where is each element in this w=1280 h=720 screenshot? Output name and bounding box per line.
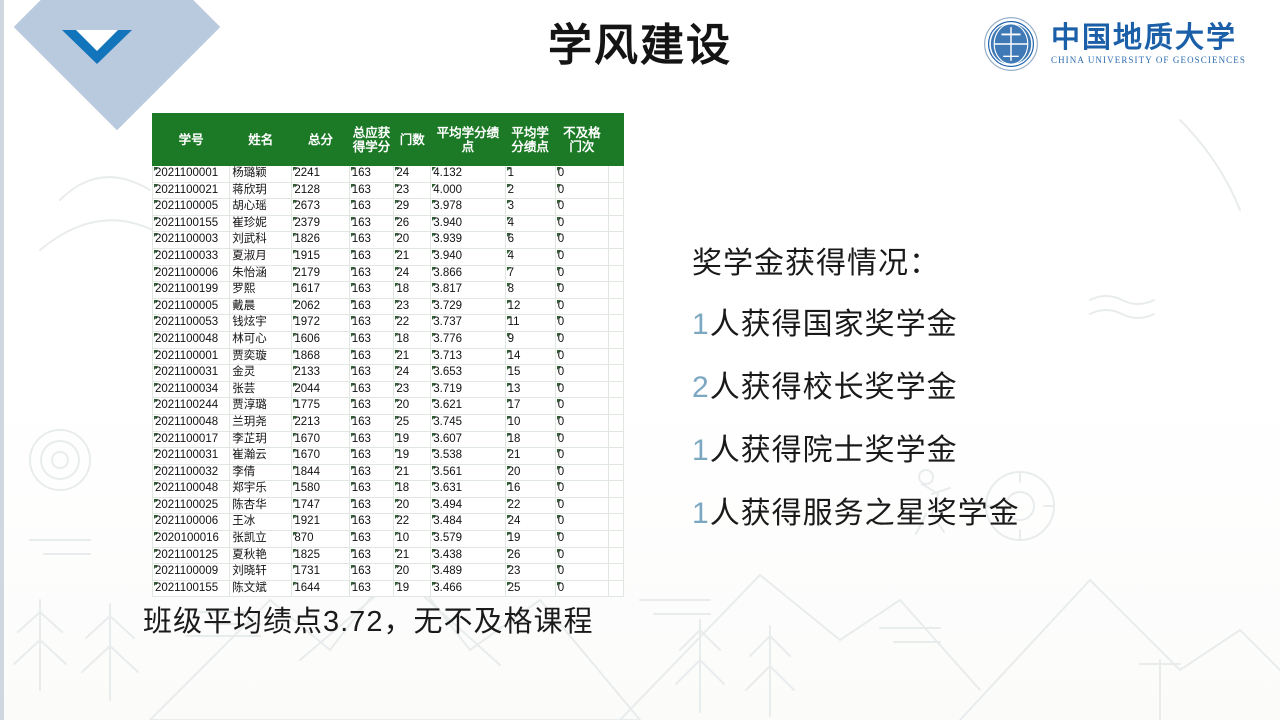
table-row[interactable]: 2021100199罗熙1617163183.81780 [153,282,624,299]
cell-gpa: 3.438 [431,547,505,564]
cell-gpa-rank: 6 [505,232,555,249]
cell-gpa-rank: 15 [505,365,555,382]
cell-name: 刘晓轩 [230,564,292,581]
cell-gpa: 3.494 [431,497,505,514]
cell-name: 张凯立 [230,531,292,548]
award-label: 人获得国家奖学金 [710,308,958,341]
cell-fail-count: 0 [555,348,608,365]
cell-spacer [609,514,624,531]
table-body: 2021100001杨璐颖2241163244.132102021100021蒋… [153,166,624,597]
cell-student-id: 2021100031 [153,448,230,465]
column-header-course-count: 门数 [394,114,431,166]
cell-spacer [609,331,624,348]
cell-student-id: 2021100048 [153,481,230,498]
cell-total-score: 2133 [292,365,349,382]
cell-spacer [609,547,624,564]
cell-credits: 163 [349,365,394,382]
cell-course-count: 18 [394,481,431,498]
cell-gpa-rank: 14 [505,348,555,365]
cell-fail-count: 0 [555,547,608,564]
cell-course-count: 25 [394,414,431,431]
cell-credits: 163 [349,348,394,365]
cell-gpa: 3.466 [431,580,505,597]
cell-name: 王冰 [230,514,292,531]
cell-student-id: 2021100244 [153,398,230,415]
award-line: 1人获得服务之星奖学金 [692,488,1192,532]
cell-total-score: 1644 [292,580,349,597]
cell-credits: 163 [349,282,394,299]
cell-student-id: 2021100034 [153,381,230,398]
cell-gpa: 3.631 [431,481,505,498]
cell-name: 贾淳璐 [230,398,292,415]
cell-fail-count: 0 [555,282,608,299]
cell-total-score: 1844 [292,464,349,481]
cell-fail-count: 0 [555,166,608,183]
table-row[interactable]: 2021100033夏淑月1915163213.94040 [153,248,624,265]
cell-gpa-rank: 4 [505,215,555,232]
cell-fail-count: 0 [555,182,608,199]
cell-fail-count: 0 [555,232,608,249]
awards-list: 1人获得国家奖学金2人获得校长奖学金1人获得院士奖学金1人获得服务之星奖学金 [692,299,1192,532]
cell-credits: 163 [349,464,394,481]
cell-gpa-rank: 1 [505,166,555,183]
cell-student-id: 2021100005 [153,298,230,315]
cell-name: 刘武科 [230,232,292,249]
award-line: 1人获得国家奖学金 [692,299,1192,343]
cell-credits: 163 [349,514,394,531]
cell-gpa-rank: 22 [505,497,555,514]
cell-student-id: 2021100048 [153,414,230,431]
cell-course-count: 18 [394,282,431,299]
cell-gpa-rank: 21 [505,448,555,465]
table-row[interactable]: 2021100032李倩1844163213.561200 [153,464,624,481]
cell-total-score: 1921 [292,514,349,531]
cell-gpa: 3.729 [431,298,505,315]
cell-student-id: 2021100021 [153,182,230,199]
cell-student-id: 2021100155 [153,580,230,597]
cell-gpa-rank: 17 [505,398,555,415]
table-header-row: 学号 姓名 总分 总应获得学分 门数 平均学分绩点 平均学分绩点 不及格门次 [153,114,624,166]
cell-gpa: 3.940 [431,248,505,265]
cell-gpa-rank: 3 [505,199,555,216]
cell-gpa-rank: 19 [505,531,555,548]
award-count: 2 [692,371,710,404]
cell-gpa: 3.978 [431,199,505,216]
logo-name-en: CHINA UNIVERSITY OF GEOSCIENCES [1051,55,1246,65]
cell-name: 朱怡涵 [230,265,292,282]
cell-credits: 163 [349,547,394,564]
cell-credits: 163 [349,398,394,415]
cell-fail-count: 0 [555,514,608,531]
cell-fail-count: 0 [555,315,608,332]
cell-course-count: 21 [394,547,431,564]
cell-spacer [609,232,624,249]
table-row[interactable]: 2021100125夏秋艳1825163213.438260 [153,547,624,564]
table-row[interactable]: 2021100048兰玥尧2213163253.745100 [153,414,624,431]
cell-name: 贾奕璇 [230,348,292,365]
table-row[interactable]: 2021100017李芷玥1670163193.607180 [153,431,624,448]
cell-credits: 163 [349,248,394,265]
cell-course-count: 10 [394,531,431,548]
cell-spacer [609,265,624,282]
cell-gpa: 3.745 [431,414,505,431]
cell-total-score: 1617 [292,282,349,299]
table-row[interactable]: 2021100001贾奕璇1868163213.713140 [153,348,624,365]
university-logo: 中国地质大学 CHINA UNIVERSITY OF GEOSCIENCES [983,16,1246,72]
cell-credits: 163 [349,580,394,597]
cell-total-score: 2379 [292,215,349,232]
cell-fail-count: 0 [555,298,608,315]
cell-credits: 163 [349,381,394,398]
cell-spacer [609,315,624,332]
cell-spacer [609,166,624,183]
cell-student-id: 2021100199 [153,282,230,299]
cell-spacer [609,564,624,581]
cell-total-score: 1775 [292,398,349,415]
cell-name: 崔瀚云 [230,448,292,465]
cell-fail-count: 0 [555,365,608,382]
cell-gpa: 3.939 [431,232,505,249]
cell-course-count: 18 [394,331,431,348]
cell-student-id: 2021100005 [153,199,230,216]
cell-gpa-rank: 10 [505,414,555,431]
cell-spacer [609,580,624,597]
cell-gpa-rank: 25 [505,580,555,597]
cell-total-score: 1731 [292,564,349,581]
cell-course-count: 23 [394,182,431,199]
cell-student-id: 2021100033 [153,248,230,265]
cell-credits: 163 [349,448,394,465]
cell-gpa: 3.940 [431,215,505,232]
cell-name: 李芷玥 [230,431,292,448]
cell-total-score: 1606 [292,331,349,348]
cell-credits: 163 [349,315,394,332]
cell-total-score: 1972 [292,315,349,332]
cell-gpa: 3.653 [431,365,505,382]
cell-gpa-rank: 7 [505,265,555,282]
cell-student-id: 2021100009 [153,564,230,581]
cell-student-id: 2021100001 [153,348,230,365]
award-line: 1人获得院士奖学金 [692,425,1192,469]
table-row[interactable]: 2021100155陈文斌1644163193.466250 [153,580,624,597]
cell-spacer [609,398,624,415]
cell-spacer [609,448,624,465]
cell-course-count: 23 [394,381,431,398]
cell-student-id: 2021100155 [153,215,230,232]
cell-gpa: 3.489 [431,564,505,581]
cell-total-score: 1868 [292,348,349,365]
cell-name: 夏秋艳 [230,547,292,564]
cell-credits: 163 [349,481,394,498]
cell-name: 戴晨 [230,298,292,315]
column-header-gpa: 平均学分绩点 [431,114,505,166]
cell-course-count: 21 [394,464,431,481]
table-row[interactable]: 2021100009刘晓轩1731163203.489230 [153,564,624,581]
cell-total-score: 1826 [292,232,349,249]
cell-gpa-rank: 23 [505,564,555,581]
cell-course-count: 20 [394,398,431,415]
cell-course-count: 24 [394,265,431,282]
cell-course-count: 19 [394,431,431,448]
cell-credits: 163 [349,531,394,548]
cell-spacer [609,414,624,431]
cell-gpa: 3.579 [431,531,505,548]
cell-course-count: 23 [394,298,431,315]
logo-text-block: 中国地质大学 CHINA UNIVERSITY OF GEOSCIENCES [1051,24,1246,65]
cell-gpa-rank: 26 [505,547,555,564]
table-row[interactable]: 2021100006朱怡涵2179163243.86670 [153,265,624,282]
cell-spacer [609,481,624,498]
table-row[interactable]: 2021100005胡心瑶2673163293.97830 [153,199,624,216]
cell-gpa-rank: 24 [505,514,555,531]
cell-gpa-rank: 16 [505,481,555,498]
cell-student-id: 2021100025 [153,497,230,514]
cell-spacer [609,431,624,448]
table-row[interactable]: 2021100034张芸2044163233.719130 [153,381,624,398]
cell-student-id: 2021100003 [153,232,230,249]
cell-total-score: 2673 [292,199,349,216]
cell-credits: 163 [349,265,394,282]
cell-fail-count: 0 [555,431,608,448]
cell-credits: 163 [349,497,394,514]
cell-name: 林可心 [230,331,292,348]
cell-name: 胡心瑶 [230,199,292,216]
award-label: 人获得服务之星奖学金 [710,497,1020,530]
column-header-student-id: 学号 [153,114,230,166]
cell-course-count: 20 [394,232,431,249]
cell-spacer [609,365,624,382]
cell-fail-count: 0 [555,398,608,415]
column-header-spacer [609,114,624,166]
award-label: 人获得院士奖学金 [710,434,958,467]
cell-gpa-rank: 2 [505,182,555,199]
cell-credits: 163 [349,215,394,232]
award-count: 1 [692,497,710,530]
cell-total-score: 2241 [292,166,349,183]
table-row[interactable]: 2021100006王冰1921163223.484240 [153,514,624,531]
cell-student-id: 2021100006 [153,514,230,531]
table-row[interactable]: 2020100016张凯立870163103.579190 [153,531,624,548]
cell-total-score: 2128 [292,182,349,199]
cell-name: 崔珍妮 [230,215,292,232]
cell-course-count: 20 [394,497,431,514]
cell-fail-count: 0 [555,215,608,232]
grade-table[interactable]: 学号 姓名 总分 总应获得学分 门数 平均学分绩点 平均学分绩点 不及格门次 2… [152,113,624,597]
cell-fail-count: 0 [555,464,608,481]
cell-gpa-rank: 8 [505,282,555,299]
cell-spacer [609,348,624,365]
cell-gpa: 3.561 [431,464,505,481]
cell-total-score: 2044 [292,381,349,398]
column-header-credits: 总应获得学分 [349,114,394,166]
table-row[interactable]: 2021100155崔珍妮2379163263.94040 [153,215,624,232]
cell-gpa: 3.817 [431,282,505,299]
table-caption: 班级平均绩点3.72，无不及格课程 [143,598,593,640]
cell-name: 蒋欣玥 [230,182,292,199]
cell-course-count: 24 [394,166,431,183]
cell-name: 兰玥尧 [230,414,292,431]
cell-course-count: 24 [394,365,431,382]
column-header-total-score: 总分 [292,114,349,166]
cell-credits: 163 [349,431,394,448]
award-count: 1 [692,308,710,341]
slide-canvas: 学风建设 中国地质大学 CHINA UNIVERSITY OF GEOSCIEN… [0,0,1280,720]
cell-credits: 163 [349,182,394,199]
column-header-name: 姓名 [230,114,292,166]
cell-name: 罗熙 [230,282,292,299]
table-row[interactable]: 2021100021蒋欣玥2128163234.00020 [153,182,624,199]
cell-gpa: 4.000 [431,182,505,199]
cell-fail-count: 0 [555,481,608,498]
cell-credits: 163 [349,298,394,315]
cell-gpa: 3.484 [431,514,505,531]
cell-gpa: 4.132 [431,166,505,183]
table-row[interactable]: 2021100003刘武科1826163203.93960 [153,232,624,249]
cell-fail-count: 0 [555,448,608,465]
table-row[interactable]: 2021100048郑宇乐1580163183.631160 [153,481,624,498]
cell-spacer [609,215,624,232]
award-line: 2人获得校长奖学金 [692,362,1192,406]
cell-gpa-rank: 13 [505,381,555,398]
cell-course-count: 22 [394,514,431,531]
cell-gpa: 3.538 [431,448,505,465]
cell-student-id: 2021100125 [153,547,230,564]
cell-fail-count: 0 [555,531,608,548]
cell-fail-count: 0 [555,381,608,398]
cell-gpa: 3.737 [431,315,505,332]
column-header-fail-count: 不及格门次 [555,114,608,166]
cell-name: 钱炫宇 [230,315,292,332]
cell-name: 陈杏华 [230,497,292,514]
cell-student-id: 2021100032 [153,464,230,481]
awards-section: 奖学金获得情况： 1人获得国家奖学金2人获得校长奖学金1人获得院士奖学金1人获得… [692,238,1192,551]
cell-student-id: 2021100048 [153,331,230,348]
table-row[interactable]: 2021100244贾淳璐1775163203.621170 [153,398,624,415]
left-accent-rail [0,0,4,720]
cell-fail-count: 0 [555,414,608,431]
cell-name: 夏淑月 [230,248,292,265]
cell-total-score: 2179 [292,265,349,282]
cell-gpa: 3.776 [431,331,505,348]
award-count: 1 [692,434,710,467]
cell-total-score: 1915 [292,248,349,265]
table-row[interactable]: 2021100053钱炫宇1972163223.737110 [153,315,624,332]
cell-spacer [609,464,624,481]
cell-credits: 163 [349,232,394,249]
cell-total-score: 1580 [292,481,349,498]
cell-credits: 163 [349,331,394,348]
cell-fail-count: 0 [555,265,608,282]
cell-spacer [609,248,624,265]
cell-gpa: 3.621 [431,398,505,415]
cell-total-score: 1747 [292,497,349,514]
cell-total-score: 870 [292,531,349,548]
cell-fail-count: 0 [555,497,608,514]
cell-spacer [609,199,624,216]
cell-credits: 163 [349,166,394,183]
cell-spacer [609,531,624,548]
table-row[interactable]: 2021100031金灵2133163243.653150 [153,365,624,382]
award-label: 人获得校长奖学金 [710,371,958,404]
cell-credits: 163 [349,564,394,581]
cell-spacer [609,182,624,199]
cell-credits: 163 [349,414,394,431]
cell-course-count: 21 [394,348,431,365]
awards-heading: 奖学金获得情况： [692,238,1192,282]
cell-total-score: 1670 [292,448,349,465]
cell-name: 杨璐颖 [230,166,292,183]
table-row[interactable]: 2021100048林可心1606163183.77690 [153,331,624,348]
cell-gpa-rank: 4 [505,248,555,265]
cell-name: 李倩 [230,464,292,481]
cell-spacer [609,497,624,514]
cell-gpa: 3.607 [431,431,505,448]
table-row[interactable]: 2021100005戴晨2062163233.729120 [153,298,624,315]
cell-student-id: 2021100053 [153,315,230,332]
shield-logo-icon [983,16,1039,72]
cell-course-count: 21 [394,248,431,265]
cell-student-id: 2021100001 [153,166,230,183]
table-row[interactable]: 2021100001杨璐颖2241163244.13210 [153,166,624,183]
cell-spacer [609,282,624,299]
cell-course-count: 26 [394,215,431,232]
cell-course-count: 22 [394,315,431,332]
logo-name-cn: 中国地质大学 [1051,24,1246,53]
cell-total-score: 1825 [292,547,349,564]
cell-spacer [609,381,624,398]
cell-gpa: 3.713 [431,348,505,365]
column-header-gpa-rank: 平均学分绩点 [505,114,555,166]
cell-course-count: 19 [394,580,431,597]
cell-fail-count: 0 [555,248,608,265]
cell-name: 金灵 [230,365,292,382]
cell-total-score: 1670 [292,431,349,448]
cell-gpa: 3.719 [431,381,505,398]
cell-gpa-rank: 20 [505,464,555,481]
cell-fail-count: 0 [555,199,608,216]
cell-gpa: 3.866 [431,265,505,282]
cell-spacer [609,298,624,315]
table-row[interactable]: 2021100025陈杏华1747163203.494220 [153,497,624,514]
cell-gpa-rank: 11 [505,315,555,332]
cell-student-id: 2020100016 [153,531,230,548]
cell-course-count: 20 [394,564,431,581]
cell-student-id: 2021100017 [153,431,230,448]
cell-course-count: 29 [394,199,431,216]
cell-name: 陈文斌 [230,580,292,597]
cell-course-count: 19 [394,448,431,465]
cell-fail-count: 0 [555,331,608,348]
cell-gpa-rank: 9 [505,331,555,348]
cell-fail-count: 0 [555,564,608,581]
cell-total-score: 2213 [292,414,349,431]
cell-student-id: 2021100006 [153,265,230,282]
table-row[interactable]: 2021100031崔瀚云1670163193.538210 [153,448,624,465]
cell-total-score: 2062 [292,298,349,315]
cell-fail-count: 0 [555,580,608,597]
cell-gpa-rank: 18 [505,431,555,448]
cell-credits: 163 [349,199,394,216]
cell-name: 张芸 [230,381,292,398]
cell-name: 郑宇乐 [230,481,292,498]
cell-student-id: 2021100031 [153,365,230,382]
cell-gpa-rank: 12 [505,298,555,315]
